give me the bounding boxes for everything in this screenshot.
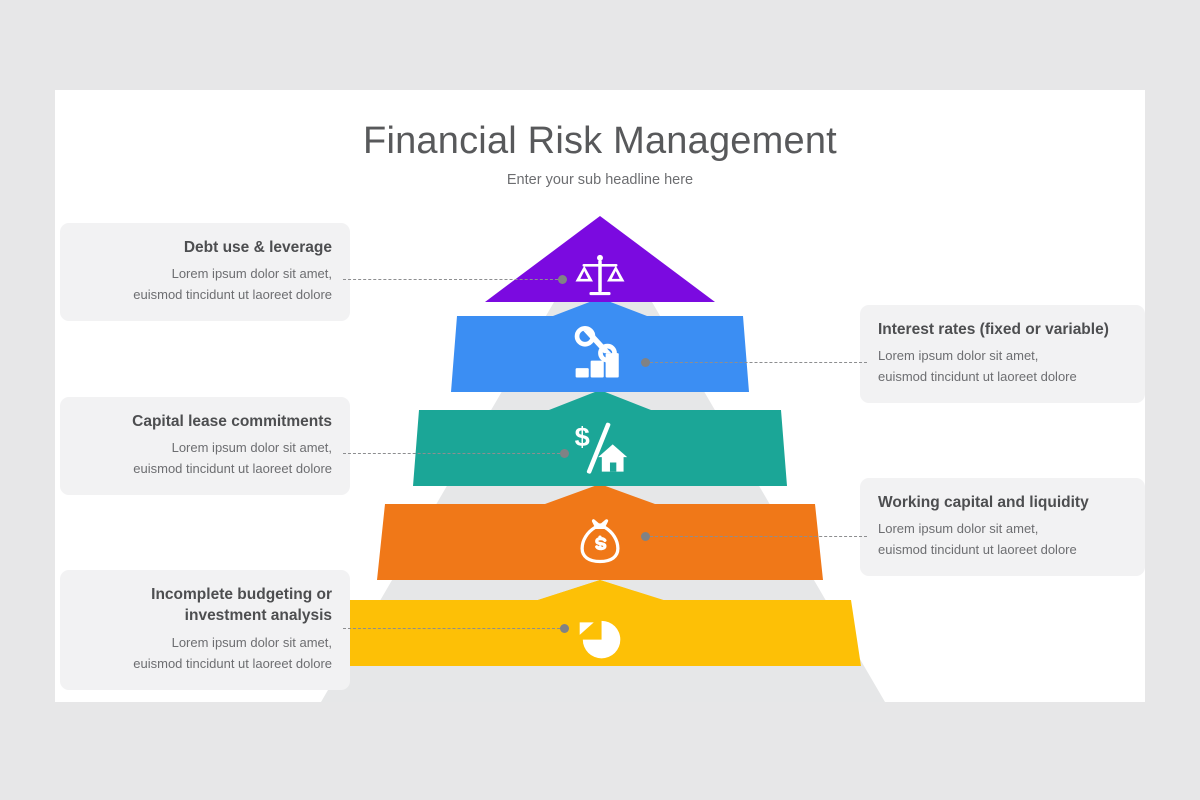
callout-right-1[interactable]: Interest rates (fixed or variable) Lorem… (860, 305, 1145, 403)
callout-body: Lorem ipsum dolor sit amet, euismod tinc… (78, 437, 332, 479)
callout-body: Lorem ipsum dolor sit amet, euismod tinc… (78, 263, 332, 305)
connector-line (343, 628, 565, 629)
pyramid-tier-teal[interactable] (413, 390, 787, 486)
callout-left-3[interactable]: Incomplete budgeting or investment analy… (60, 570, 350, 690)
connector-dot (560, 624, 569, 633)
callout-body-line-2: euismod tincidunt ut laoreet dolore (78, 284, 332, 305)
callout-title: Debt use & leverage (78, 237, 332, 258)
connector-line (343, 453, 565, 454)
connector-left-3 (343, 628, 565, 629)
pyramid-tier-blue[interactable] (451, 298, 749, 392)
connector-dot (560, 449, 569, 458)
callout-body-line-1: Lorem ipsum dolor sit amet, (78, 263, 332, 284)
connector-left-2 (343, 453, 565, 454)
connector-line (343, 279, 563, 280)
callout-left-2[interactable]: Capital lease commitments Lorem ipsum do… (60, 397, 350, 495)
callout-body-line-2: euismod tincidunt ut laoreet dolore (78, 458, 332, 479)
callout-body: Lorem ipsum dolor sit amet, euismod tinc… (878, 518, 1127, 560)
connector-line (645, 536, 867, 537)
callout-body-line-1: Lorem ipsum dolor sit amet, (878, 345, 1127, 366)
callout-title: Working capital and liquidity (878, 492, 1127, 513)
callout-body-line-1: Lorem ipsum dolor sit amet, (78, 632, 332, 653)
callout-body-line-2: euismod tincidunt ut laoreet dolore (878, 366, 1127, 387)
connector-line (645, 362, 867, 363)
callout-body: Lorem ipsum dolor sit amet, euismod tinc… (78, 632, 332, 674)
connector-left-1 (343, 279, 563, 280)
callout-body: Lorem ipsum dolor sit amet, euismod tinc… (878, 345, 1127, 387)
callout-title: Incomplete budgeting or investment analy… (78, 584, 332, 627)
slide-canvas: Financial Risk Management Enter your sub… (55, 90, 1145, 702)
callout-body-line-1: Lorem ipsum dolor sit amet, (78, 437, 332, 458)
connector-dot (558, 275, 567, 284)
callout-left-1[interactable]: Debt use & leverage Lorem ipsum dolor si… (60, 223, 350, 321)
connector-right-2 (645, 536, 867, 537)
connector-dot (641, 532, 650, 541)
callout-body-line-2: euismod tincidunt ut laoreet dolore (878, 539, 1127, 560)
pyramid-tier-purple[interactable] (485, 216, 715, 302)
callout-right-2[interactable]: Working capital and liquidity Lorem ipsu… (860, 478, 1145, 576)
callout-body-line-1: Lorem ipsum dolor sit amet, (878, 518, 1127, 539)
callout-body-line-2: euismod tincidunt ut laoreet dolore (78, 653, 332, 674)
connector-right-1 (645, 362, 867, 363)
callout-title: Interest rates (fixed or variable) (878, 319, 1127, 340)
callout-title: Capital lease commitments (78, 411, 332, 432)
connector-dot (641, 358, 650, 367)
